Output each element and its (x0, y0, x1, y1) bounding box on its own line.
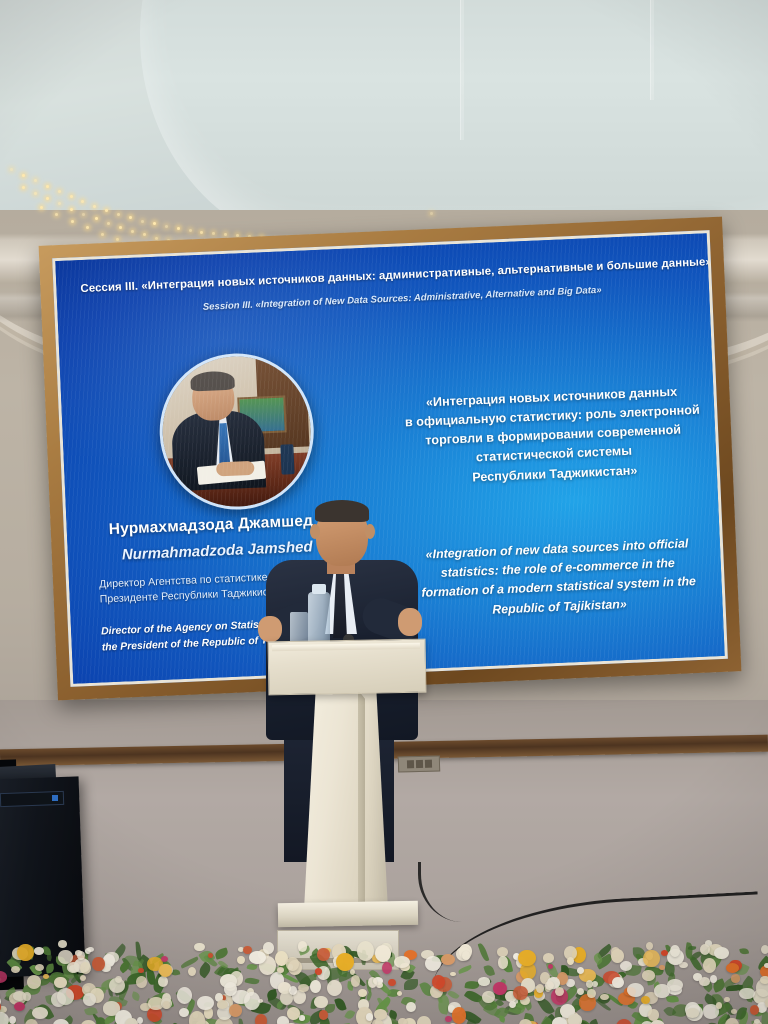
flower (731, 1009, 737, 1014)
flower (11, 966, 20, 973)
flower (567, 957, 574, 965)
flower (263, 942, 274, 954)
flower (67, 962, 80, 973)
foliage (214, 947, 229, 959)
speaker-ear-right (365, 524, 375, 539)
flower (83, 993, 96, 1006)
flower (450, 972, 456, 977)
flower (224, 982, 237, 996)
flower (366, 1013, 374, 1020)
flower (536, 984, 544, 993)
foliage (239, 1019, 244, 1024)
flower (81, 1020, 96, 1024)
flower (627, 983, 644, 997)
floral-arrangement-row (0, 920, 768, 1024)
flower (23, 992, 31, 1000)
flower (432, 975, 445, 989)
flower (750, 1005, 759, 1015)
flower (0, 971, 7, 982)
flower (317, 948, 330, 962)
flower (27, 975, 42, 989)
flower (641, 996, 650, 1004)
flower (351, 975, 361, 986)
flower (255, 1014, 267, 1024)
foliage (345, 1009, 356, 1020)
foliage (46, 954, 53, 962)
flower (286, 957, 299, 971)
flower (35, 964, 44, 971)
flower (382, 962, 392, 974)
flower (0, 1012, 9, 1024)
flower (397, 991, 402, 996)
flower (406, 1002, 416, 1012)
flower (14, 1002, 25, 1012)
flower (761, 945, 768, 955)
flower (445, 1016, 451, 1022)
flower (642, 970, 655, 981)
flower (441, 954, 455, 965)
flower (587, 989, 595, 998)
foliage (448, 989, 461, 1001)
flower (646, 942, 653, 950)
flower (368, 977, 377, 988)
flower (43, 974, 49, 979)
flower (208, 953, 213, 958)
flower (57, 988, 75, 1005)
flower (77, 951, 85, 960)
flower (670, 945, 680, 957)
flower (314, 996, 327, 1009)
flower (298, 941, 307, 951)
flower (519, 1019, 533, 1024)
flower (177, 987, 192, 1004)
flower (217, 1000, 228, 1008)
foliage (131, 991, 142, 1001)
flower (725, 1018, 739, 1024)
speaker-hair (315, 500, 369, 522)
flower (358, 989, 367, 997)
flower (731, 974, 741, 982)
lectern-column (304, 688, 388, 910)
flower (319, 1010, 328, 1019)
flower (417, 1016, 431, 1024)
flower (194, 943, 204, 951)
flower (244, 992, 260, 1011)
flower (612, 977, 624, 988)
flower (716, 1002, 722, 1008)
flower (478, 977, 489, 986)
foliage (244, 976, 259, 986)
flower (163, 1001, 170, 1008)
flower (115, 976, 122, 983)
speaker-ear-left (310, 524, 320, 539)
flower (54, 977, 66, 988)
flower (482, 991, 494, 1003)
loudspeaker-led-icon (52, 795, 58, 801)
flower (643, 950, 660, 968)
flower (760, 976, 768, 985)
flower (350, 969, 355, 975)
flower (724, 997, 729, 1002)
speaker-hand-left (258, 616, 282, 642)
foliage (483, 964, 494, 977)
foliage (587, 1019, 599, 1024)
flower (703, 958, 716, 972)
flower (513, 986, 528, 1001)
flower (659, 965, 665, 970)
flower (357, 941, 374, 961)
flower (518, 950, 535, 967)
flower (159, 964, 172, 977)
flower (600, 994, 609, 1001)
flower (136, 976, 147, 988)
flower (92, 957, 104, 971)
flower (189, 1011, 206, 1024)
flower (327, 980, 342, 996)
screen-glare (52, 230, 456, 496)
lectern-column-edge (358, 690, 365, 908)
flower (388, 979, 396, 986)
flower (299, 1015, 306, 1020)
flower (462, 951, 470, 960)
flower (545, 981, 554, 990)
flower (375, 945, 391, 962)
flower (229, 1004, 242, 1017)
foliage (477, 942, 489, 962)
flower (237, 956, 245, 964)
lectern (262, 640, 430, 930)
flower (686, 1008, 698, 1018)
flower (179, 1008, 189, 1017)
flower (58, 940, 67, 947)
flower (289, 986, 297, 994)
flower (699, 977, 710, 986)
flower (277, 967, 283, 973)
foliage (739, 948, 749, 956)
flower (543, 953, 554, 963)
flower (87, 947, 95, 953)
flower (188, 967, 196, 976)
flower (298, 984, 308, 992)
flower (714, 947, 729, 959)
flower (34, 947, 44, 955)
flower (125, 1018, 137, 1024)
flower (310, 980, 321, 993)
flower (425, 956, 441, 972)
foliage (458, 965, 472, 974)
foliage (334, 996, 347, 1011)
screenshot-root: Сессия III. «Интеграция новых источников… (0, 0, 768, 1024)
foliage (404, 979, 418, 990)
flower (394, 956, 410, 968)
flower (138, 968, 144, 973)
flower (158, 976, 168, 987)
flower (568, 1014, 582, 1024)
flower (25, 1019, 38, 1024)
flower (661, 950, 668, 956)
flower (620, 961, 632, 971)
water-bottle-cap (312, 584, 326, 594)
flower (616, 1019, 632, 1024)
flower (398, 1018, 407, 1024)
flower (80, 962, 90, 974)
flower (452, 1007, 467, 1024)
flower (80, 975, 86, 981)
flower (372, 1019, 383, 1024)
flower (17, 944, 34, 961)
speaker-hand-right (398, 608, 422, 636)
